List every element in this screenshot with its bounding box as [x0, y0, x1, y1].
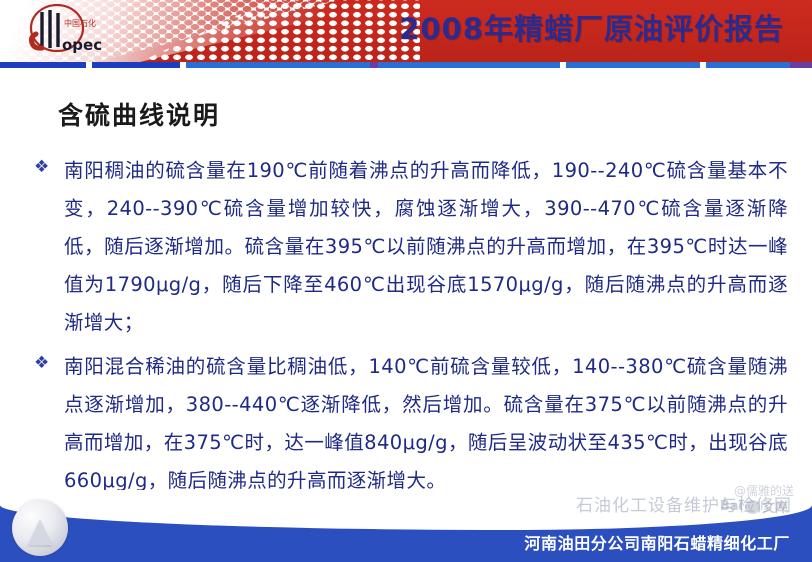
- svg-text:中国石化: 中国石化: [64, 18, 96, 28]
- bullet-list: ❖ 南阳稠油的硫含量在190℃前随着沸点的升高而降低，190--240℃硫含量基…: [32, 152, 788, 506]
- svg-text:opec: opec: [62, 36, 102, 54]
- list-item: ❖ 南阳稠油的硫含量在190℃前随着沸点的升高而降低，190--240℃硫含量基…: [32, 152, 788, 342]
- diamond-bullet-icon: ❖: [34, 158, 52, 176]
- header-rule-strip: [0, 62, 812, 68]
- header-banner: opec 中国石化 2008年精蜡厂原油评价报告: [0, 0, 812, 62]
- emblem-cone-shape: [28, 519, 52, 545]
- list-item: ❖ 南阳混合稀油的硫含量比稠油低，140℃前硫含量较低，140--380℃硫含量…: [32, 348, 788, 500]
- diamond-bullet-icon: ❖: [34, 354, 52, 372]
- page-title: 2008年精蜡厂原油评价报告: [399, 6, 784, 48]
- footer-company-name: 河南油田分公司南阳石蜡精细化工厂: [524, 530, 790, 554]
- bullet-paragraph: 南阳混合稀油的硫含量比稠油低，140℃前硫含量较低，140--380℃硫含量随沸…: [64, 348, 788, 500]
- watermark-site: 石油化工设备维护与检修网: [576, 491, 792, 516]
- section-heading: 含硫曲线说明: [58, 96, 220, 132]
- sinopec-logo-icon: opec 中国石化: [12, 4, 122, 60]
- bullet-paragraph: 南阳稠油的硫含量在190℃前随着沸点的升高而降低，190--240℃硫含量基本不…: [64, 152, 788, 342]
- company-emblem-icon: [12, 500, 68, 556]
